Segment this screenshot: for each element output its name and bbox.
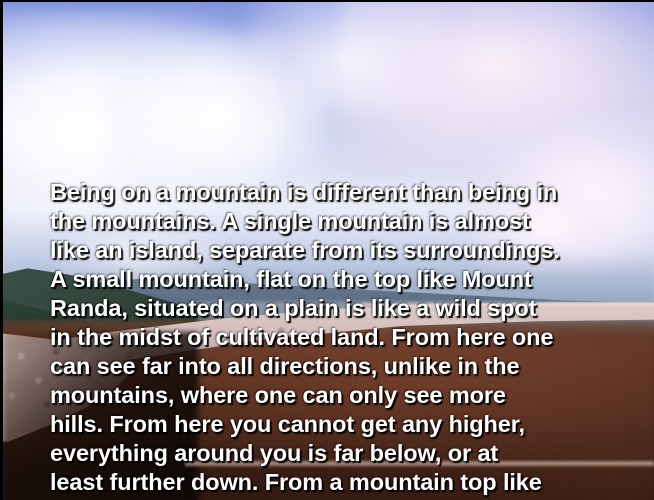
letterbox-top-edge (0, 0, 654, 2)
video-frame: Being on a mountain is different than be… (0, 0, 654, 500)
letterbox-left-edge (0, 0, 3, 500)
cloud-center-top (250, 2, 445, 112)
subtitle-line: Being on a mountain is different than be… (50, 178, 630, 207)
subtitle-line: Randa, situated on a plain is like a wil… (50, 294, 630, 323)
subtitle-line: the mountains. A single mountain is almo… (50, 207, 630, 236)
subtitle-line: A small mountain, flat on the top like M… (50, 265, 630, 294)
subtitle-line: everything around you is far below, or a… (50, 439, 630, 468)
subtitle-line: in the midst of cultivated land. From he… (50, 323, 630, 352)
subtitle-line: can see far into all directions, unlike … (50, 352, 630, 381)
subtitle-overlay: Being on a mountain is different than be… (50, 178, 630, 497)
subtitle-line: hills. From here you cannot get any high… (50, 410, 630, 439)
subtitle-line: least further down. From a mountain top … (50, 468, 630, 497)
subtitle-line: like an island, separate from its surrou… (50, 236, 630, 265)
subtitle-line: mountains, where one can only see more (50, 381, 630, 410)
